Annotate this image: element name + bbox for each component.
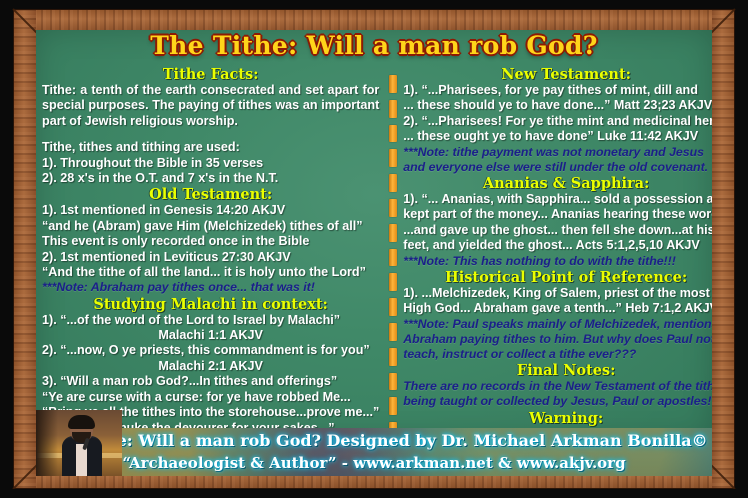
footer-website-line: “Archaeologist & Author” - www.arkman.ne… bbox=[36, 453, 712, 474]
left-column: Tithe Facts:Tithe: a tenth of the earth … bbox=[36, 66, 383, 440]
divider-bar bbox=[389, 224, 397, 242]
body-line: 1). “...Pharisees, for ye pay tithes of … bbox=[403, 83, 712, 98]
note-line: ***Note: Paul speaks mainly of Melchized… bbox=[403, 317, 712, 363]
section-heading: Historical Point of Reference: bbox=[403, 269, 712, 286]
divider-bar bbox=[389, 323, 397, 341]
divider-bar bbox=[389, 348, 397, 366]
body-line: 2). 28 x's in the O.T. and 7 x's in the … bbox=[42, 171, 379, 186]
body-line: 1). 1st mentioned in Genesis 14:20 AKJV bbox=[42, 203, 379, 218]
photo-shadow bbox=[36, 410, 58, 476]
right-column: New Testament:1). “...Pharisees, for ye … bbox=[383, 66, 712, 440]
section-heading: Old Testament: bbox=[42, 186, 379, 203]
divider-bar bbox=[389, 100, 397, 118]
divider-bar bbox=[389, 149, 397, 167]
body-line: 2). “...now, O ye priests, this commandm… bbox=[42, 343, 379, 358]
page-title: The Tithe: Will a man rob God? bbox=[36, 31, 712, 60]
green-board: The Tithe: Will a man rob God? Tithe Fac… bbox=[36, 30, 712, 440]
divider-bar bbox=[389, 125, 397, 143]
body-line: 3). “Will a man rob God?...In tithes and… bbox=[42, 374, 379, 389]
body-line: ...and gave up the ghost... then fell sh… bbox=[403, 223, 712, 238]
frame-top-rail bbox=[14, 10, 734, 32]
speaker-photo bbox=[36, 410, 122, 476]
body-line: “and he (Abram) gave Him (Melchizedek) t… bbox=[42, 219, 379, 234]
body-line: 1). “... Ananias, with Sapphira... sold … bbox=[403, 192, 712, 207]
frame-right-rail bbox=[712, 10, 734, 488]
divider-bar bbox=[389, 397, 397, 415]
body-line: “And the tithe of all the land... it is … bbox=[42, 265, 379, 280]
body-line: 2). “...Pharisees! For ye tithe mint and… bbox=[403, 114, 712, 129]
body-line: High God... Abraham gave a tenth...” Heb… bbox=[403, 301, 712, 316]
body-line: Tithe: a tenth of the earth consecrated … bbox=[42, 83, 379, 129]
speaker-vest-left bbox=[62, 438, 76, 476]
note-line: ***Note: Abraham pay tithes once... that… bbox=[42, 280, 379, 295]
note-line: ***Note: tithe payment was not monetary … bbox=[403, 145, 712, 175]
divider-bar bbox=[389, 273, 397, 291]
body-line: 2). 1st mentioned in Leviticus 27:30 AKJ… bbox=[42, 250, 379, 265]
body-line: ... these should ye to have done...” Mat… bbox=[403, 98, 712, 113]
body-line: ... these ought ye to have done” Luke 11… bbox=[403, 129, 712, 144]
note-line: There are no records in the New Testamen… bbox=[403, 379, 712, 409]
body-line: kept part of the money... Ananias hearin… bbox=[403, 207, 712, 222]
divider-bar bbox=[389, 249, 397, 267]
speaker-hair bbox=[68, 415, 95, 429]
content-columns: Tithe Facts:Tithe: a tenth of the earth … bbox=[36, 66, 712, 440]
footer-credit-line: The Tithe: Will a man rob God? Designed … bbox=[36, 428, 712, 453]
body-line: 1). Throughout the Bible in 35 verses bbox=[42, 156, 379, 171]
section-heading: Final Notes: bbox=[403, 362, 712, 379]
section-heading: Studying Malachi in context: bbox=[42, 296, 379, 313]
section-heading: Tithe Facts: bbox=[42, 66, 379, 83]
body-line: “Ye are curse with a curse: for ye have … bbox=[42, 390, 379, 405]
speaker-vest-right bbox=[87, 438, 102, 476]
divider-bar bbox=[389, 298, 397, 316]
poster-root: The Tithe: Will a man rob God? Tithe Fac… bbox=[0, 0, 748, 498]
footer-band: The Tithe: Will a man rob God? Designed … bbox=[36, 428, 712, 476]
body-line: Tithe, tithes and tithing are used: bbox=[42, 140, 379, 155]
body-line: 1). ...Melchizedek, King of Salem, pries… bbox=[403, 286, 712, 301]
bottom-black-strip bbox=[0, 489, 748, 498]
divider-bar bbox=[389, 373, 397, 391]
section-heading: Warning: bbox=[403, 410, 712, 427]
divider-bar bbox=[389, 199, 397, 217]
divider-bar bbox=[389, 174, 397, 192]
section-heading: Ananias & Sapphira: bbox=[403, 175, 712, 192]
orange-divider-bars bbox=[389, 66, 397, 440]
spacer bbox=[42, 129, 379, 140]
body-line: Malachi 2:1 AKJV bbox=[42, 359, 379, 374]
body-line: 1). “...of the word of the Lord to Israe… bbox=[42, 313, 379, 328]
divider-bar bbox=[389, 75, 397, 93]
note-line: ***Note: This has nothing to do with the… bbox=[403, 254, 712, 269]
section-heading: New Testament: bbox=[403, 66, 712, 83]
frame-left-rail bbox=[14, 10, 36, 488]
body-line: This event is only recorded once in the … bbox=[42, 234, 379, 249]
body-line: feet, and yielded the ghost... Acts 5:1,… bbox=[403, 238, 712, 253]
body-line: Malachi 1:1 AKJV bbox=[42, 328, 379, 343]
